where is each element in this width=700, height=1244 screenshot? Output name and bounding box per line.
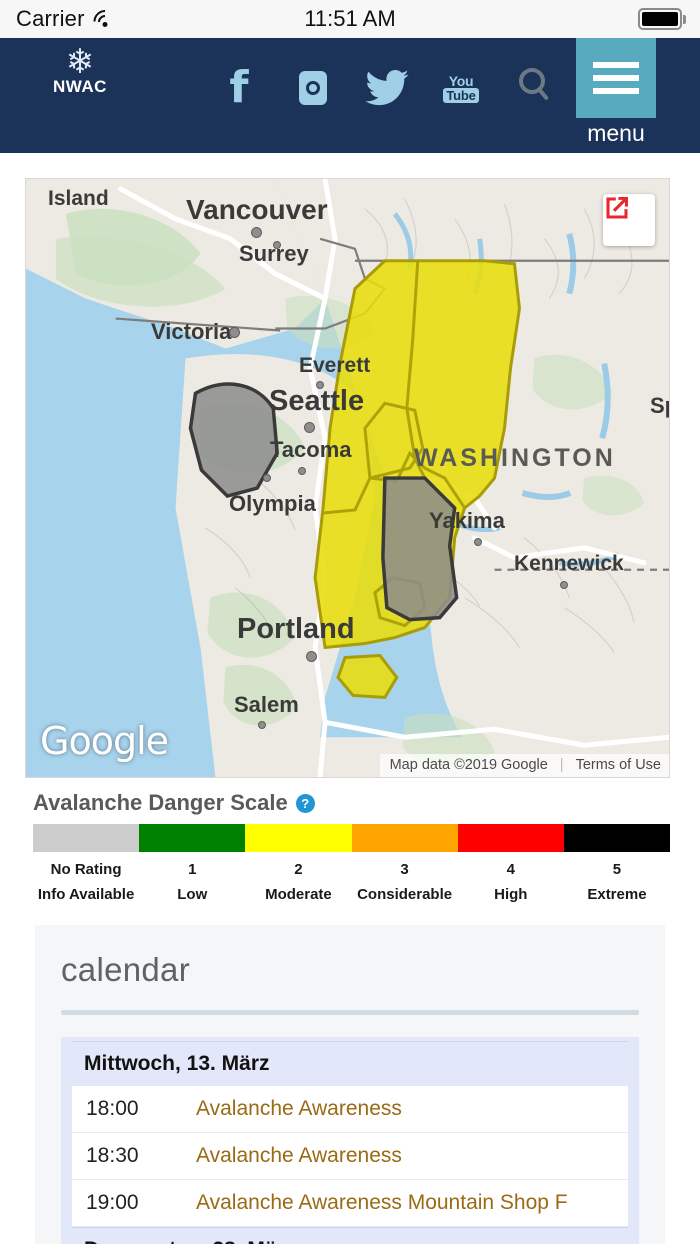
event-title-link[interactable]: Avalanche Awareness bbox=[196, 1144, 402, 1168]
danger-label-extreme: Extreme bbox=[564, 886, 670, 903]
map-dot-olympia bbox=[263, 474, 271, 482]
twitter-icon bbox=[365, 70, 409, 106]
event-time: 18:00 bbox=[86, 1097, 196, 1121]
calendar-title: calendar bbox=[61, 951, 639, 989]
danger-number-4: 4 bbox=[458, 861, 564, 878]
ios-status-bar: Carrier 11:51 AM bbox=[0, 0, 700, 38]
danger-swatch-extreme bbox=[564, 824, 670, 852]
danger-swatch-considerable bbox=[352, 824, 458, 852]
google-watermark: Google bbox=[40, 719, 168, 763]
danger-scale-numbers: No Rating 1 2 3 4 5 bbox=[33, 861, 670, 878]
event-time: 18:30 bbox=[86, 1144, 196, 1168]
danger-swatch-low bbox=[139, 824, 245, 852]
attribution-separator: | bbox=[560, 757, 564, 773]
expand-map-icon bbox=[603, 194, 631, 222]
instagram-link[interactable] bbox=[276, 71, 350, 105]
help-icon[interactable]: ? bbox=[296, 794, 315, 813]
list-item[interactable]: 19:00 Avalanche Awareness Mountain Shop … bbox=[72, 1180, 628, 1227]
danger-label-high: High bbox=[458, 886, 564, 903]
nwac-logo[interactable]: ❄ NWAC bbox=[44, 46, 116, 97]
clock-label: 11:51 AM bbox=[0, 6, 700, 32]
youtube-link[interactable]: You Tube bbox=[424, 74, 498, 103]
hamburger-icon bbox=[576, 38, 656, 118]
calendar-date-header: Donnerstag, 28. März bbox=[72, 1227, 628, 1244]
danger-number-no-rating: No Rating bbox=[33, 861, 139, 878]
danger-scale-labels: Info Available Low Moderate Considerable… bbox=[33, 886, 670, 903]
facebook-icon: f bbox=[229, 68, 248, 108]
snowflake-icon: ❄ bbox=[44, 46, 116, 78]
social-links: f You Tube bbox=[202, 68, 498, 108]
list-item[interactable]: 18:00 Avalanche Awareness bbox=[72, 1086, 628, 1133]
map-dot-everett bbox=[316, 381, 324, 389]
danger-swatch-high bbox=[458, 824, 564, 852]
search-button[interactable] bbox=[504, 68, 560, 94]
zone-no-rating-eastslopes[interactable] bbox=[383, 478, 457, 620]
map-attribution: Map data ©2019 Google | Terms of Use bbox=[380, 754, 669, 777]
app-header: ❄ NWAC f You Tube menu bbox=[0, 38, 700, 153]
map-dot-victoria bbox=[229, 327, 240, 338]
danger-number-3: 3 bbox=[352, 861, 458, 878]
danger-scale-title: Avalanche Danger Scale bbox=[33, 790, 288, 816]
danger-label-no-rating: Info Available bbox=[33, 886, 139, 903]
youtube-icon: You Tube bbox=[443, 74, 478, 103]
map-dot-surrey bbox=[273, 241, 281, 249]
map-dot-seattle bbox=[304, 422, 315, 433]
map-section: Island Vancouver Surrey Victoria Everett… bbox=[0, 153, 700, 778]
danger-label-moderate: Moderate bbox=[245, 886, 351, 903]
danger-scale-color-bar bbox=[33, 824, 670, 852]
brand-name-label: NWAC bbox=[44, 77, 116, 97]
event-title-link[interactable]: Avalanche Awareness Mountain Shop F bbox=[196, 1191, 568, 1215]
calendar-date-header: Mittwoch, 13. März bbox=[72, 1041, 628, 1086]
danger-label-considerable: Considerable bbox=[352, 886, 458, 903]
map-dot-yakima bbox=[474, 538, 482, 546]
twitter-link[interactable] bbox=[350, 70, 424, 106]
danger-scale-title-row: Avalanche Danger Scale ? bbox=[33, 790, 670, 816]
terms-of-use-link[interactable]: Terms of Use bbox=[576, 757, 661, 773]
map-dot-salem bbox=[258, 721, 266, 729]
calendar-panel: calendar Mittwoch, 13. März 18:00 Avalan… bbox=[35, 925, 665, 1244]
search-icon bbox=[519, 68, 545, 94]
danger-number-1: 1 bbox=[139, 861, 245, 878]
calendar-list: Mittwoch, 13. März 18:00 Avalanche Aware… bbox=[61, 1037, 639, 1244]
avalanche-danger-scale: Avalanche Danger Scale ? No Rating 1 2 3… bbox=[0, 778, 700, 903]
youtube-tube-text: Tube bbox=[443, 88, 478, 103]
danger-swatch-moderate bbox=[245, 824, 351, 852]
danger-swatch-no-rating bbox=[33, 824, 139, 852]
danger-number-2: 2 bbox=[245, 861, 351, 878]
map-dot-tacoma bbox=[298, 467, 306, 475]
map-graphic bbox=[26, 179, 669, 777]
menu-button[interactable]: menu bbox=[576, 38, 656, 147]
map-copyright-text: Map data ©2019 Google bbox=[390, 757, 548, 773]
list-item[interactable]: 18:30 Avalanche Awareness bbox=[72, 1133, 628, 1180]
event-title-link[interactable]: Avalanche Awareness bbox=[196, 1097, 402, 1121]
calendar-divider bbox=[61, 1010, 639, 1015]
map-dot-vancouver bbox=[251, 227, 262, 238]
map-dot-kennewick bbox=[560, 581, 568, 589]
map-dot-portland bbox=[306, 651, 317, 662]
menu-label: menu bbox=[576, 120, 656, 147]
facebook-link[interactable]: f bbox=[202, 68, 276, 108]
danger-label-low: Low bbox=[139, 886, 245, 903]
expand-map-button[interactable] bbox=[603, 194, 655, 246]
youtube-you-text: You bbox=[449, 74, 474, 88]
avalanche-zone-map[interactable]: Island Vancouver Surrey Victoria Everett… bbox=[25, 178, 670, 778]
danger-number-5: 5 bbox=[564, 861, 670, 878]
instagram-icon bbox=[299, 71, 327, 105]
event-time: 19:00 bbox=[86, 1191, 196, 1215]
